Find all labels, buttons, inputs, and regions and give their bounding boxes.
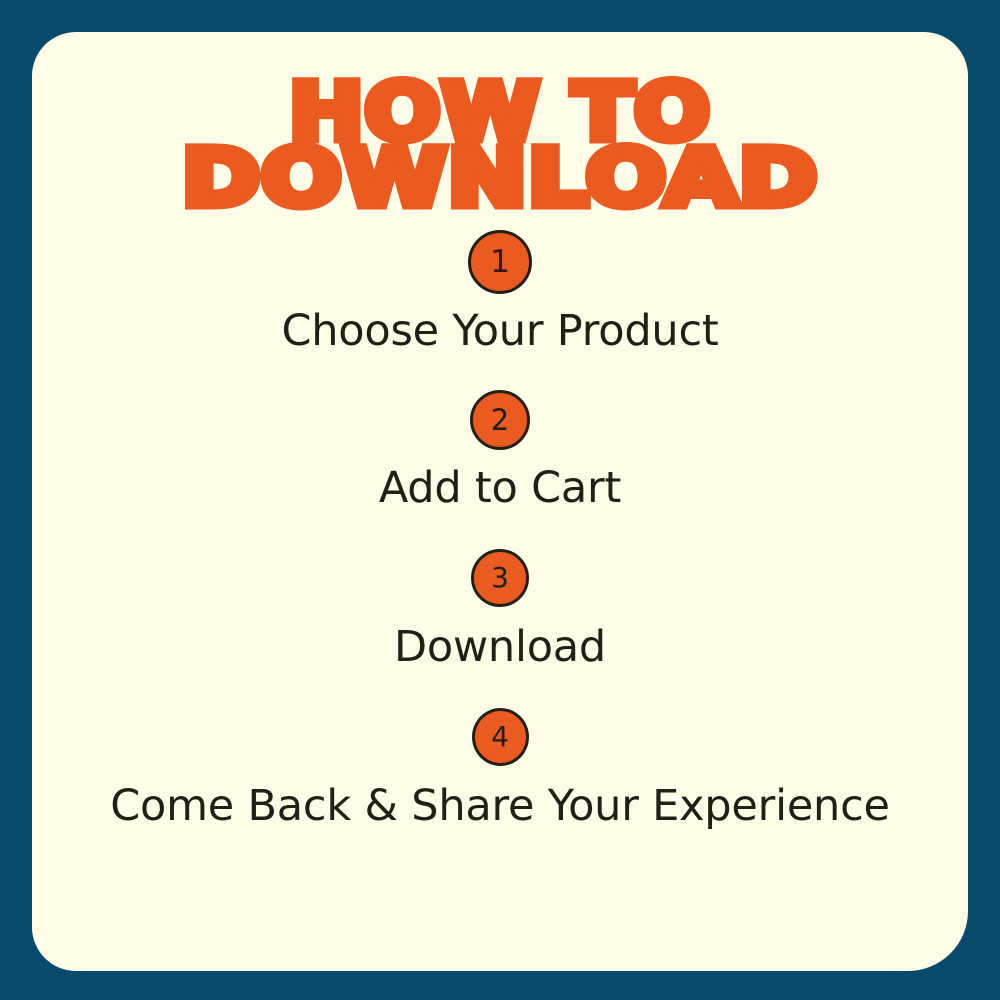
step-label-4: Come Back & Share Your Experience	[32, 781, 968, 831]
page-title: HOW TO DOWNLOAD	[32, 82, 968, 212]
step-number-badge-4: 4	[472, 708, 529, 766]
step-number-badge-2: 2	[470, 390, 530, 450]
step-item-4: 4 Come Back & Share Your Experience	[32, 708, 968, 831]
step-number-badge-3: 3	[471, 549, 529, 607]
step-label-1: Choose Your Product	[32, 306, 968, 356]
step-item-2: 2 Add to Cart	[32, 390, 968, 513]
step-label-2: Add to Cart	[32, 463, 968, 513]
step-number-badge-1: 1	[468, 230, 532, 294]
step-label-3: Download	[32, 622, 968, 672]
steps-list: 1 Choose Your Product 2 Add to Cart 3 Do…	[32, 230, 968, 831]
step-item-1: 1 Choose Your Product	[32, 230, 968, 356]
content-panel: HOW TO DOWNLOAD 1 Choose Your Product 2 …	[32, 32, 968, 971]
step-item-3: 3 Download	[32, 549, 968, 672]
title-line-download: DOWNLOAD	[32, 148, 968, 212]
poster-canvas: HOW TO DOWNLOAD 1 Choose Your Product 2 …	[0, 0, 1000, 1000]
